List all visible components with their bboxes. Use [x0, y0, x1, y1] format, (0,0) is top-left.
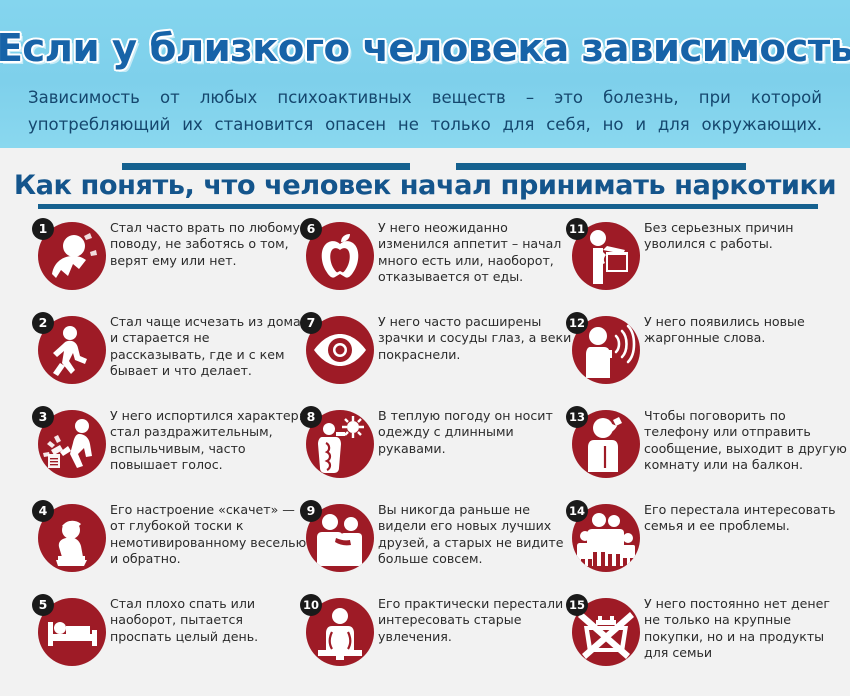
item-number-badge: 4 [32, 500, 54, 522]
item-text: Его практически перестали интересовать с… [378, 596, 576, 645]
lead-paragraph: Зависимость от любых психоактивных вещес… [28, 84, 822, 138]
icon-wrap: 12 [566, 312, 642, 388]
list-item: 4 Его настроение «скачет» — от глубокой … [32, 500, 308, 592]
signs-column-2: 6 У него неожиданно изменился аппетит – … [300, 216, 576, 694]
item-text: У него часто расширены зрачки и сосуды г… [378, 314, 576, 363]
signs-column-3: 11 Без серьезных причин уволился с работ… [566, 216, 842, 694]
icon-wrap: 1 [32, 218, 108, 294]
item-number-badge: 11 [566, 218, 588, 240]
section-title: Как понять, что человек начал принимать … [0, 170, 850, 201]
icon-wrap: 6 [300, 218, 376, 294]
item-text: Его настроение «скачет» — от глубокой то… [110, 502, 308, 568]
icon-wrap: 13 [566, 406, 642, 482]
item-text: В теплую погоду он носит одежду с длинны… [378, 408, 576, 457]
item-number-badge: 1 [32, 218, 54, 240]
section-title-underline [38, 204, 818, 209]
icon-wrap: 14 [566, 500, 642, 576]
icon-wrap: 3 [32, 406, 108, 482]
icon-wrap: 9 [300, 500, 376, 576]
item-text: У него испортился характер: стал раздраж… [110, 408, 308, 474]
item-text: У него неожиданно изменился аппетит – на… [378, 220, 576, 286]
item-text: Стал часто врать по любому поводу, не за… [110, 220, 308, 269]
icon-wrap: 10 [300, 594, 376, 670]
item-number-badge: 7 [300, 312, 322, 334]
page-title: Если у близкого человека зависимость [0, 26, 850, 70]
list-item: 3 У него испортился характер: стал раздр… [32, 406, 308, 498]
icon-wrap: 7 [300, 312, 376, 388]
item-text: Вы никогда раньше не видели его новых лу… [378, 502, 576, 568]
list-item: 15 У него постоянно нет денег не только … [566, 594, 842, 686]
list-item: 11 Без серьезных причин уволился с работ… [566, 218, 842, 310]
icon-wrap: 15 [566, 594, 642, 670]
signs-grid: 1 Стал часто врать по любому поводу, не … [0, 216, 850, 694]
item-number-badge: 13 [566, 406, 588, 428]
item-number-badge: 8 [300, 406, 322, 428]
list-item: 14 Его перестала интересовать семья и ее… [566, 500, 842, 592]
list-item: 1 Стал часто врать по любому поводу, не … [32, 218, 308, 310]
list-item: 7 У него часто расширены зрачки и сосуды… [300, 312, 576, 404]
accent-bar-right [456, 163, 746, 170]
icon-wrap: 5 [32, 594, 108, 670]
item-number-badge: 10 [300, 594, 322, 616]
item-text: Без серьезных причин уволился с работы. [644, 220, 849, 253]
item-text: Стал чаще исчезать из дома, и старается … [110, 314, 308, 380]
list-item: 10 Его практически перестали интересоват… [300, 594, 576, 686]
signs-column-1: 1 Стал часто врать по любому поводу, не … [32, 216, 308, 694]
item-text: Стал плохо спать или наоборот, пытается … [110, 596, 308, 645]
item-number-badge: 15 [566, 594, 588, 616]
list-item: 6 У него неожиданно изменился аппетит – … [300, 218, 576, 310]
item-number-badge: 6 [300, 218, 322, 240]
accent-bar-left [122, 163, 410, 170]
icon-wrap: 2 [32, 312, 108, 388]
item-number-badge: 5 [32, 594, 54, 616]
item-number-badge: 9 [300, 500, 322, 522]
item-text: У него постоянно нет денег не только на … [644, 596, 849, 662]
list-item: 13 Чтобы поговорить по телефону или отпр… [566, 406, 842, 498]
list-item: 9 Вы никогда раньше не видели его новых … [300, 500, 576, 592]
list-item: 5 Стал плохо спать или наоборот, пытаетс… [32, 594, 308, 686]
item-number-badge: 3 [32, 406, 54, 428]
item-number-badge: 2 [32, 312, 54, 334]
list-item: 8 В теплую погоду он носит одежду с длин… [300, 406, 576, 498]
header-band: Если у близкого человека зависимость Зав… [0, 0, 850, 148]
list-item: 12 У него появились новые жаргонные слов… [566, 312, 842, 404]
icon-wrap: 4 [32, 500, 108, 576]
item-text: Чтобы поговорить по телефону или отправи… [644, 408, 849, 474]
item-text: У него появились новые жаргонные слова. [644, 314, 849, 347]
item-number-badge: 14 [566, 500, 588, 522]
item-text: Его перестала интересовать семья и ее пр… [644, 502, 849, 535]
item-number-badge: 12 [566, 312, 588, 334]
icon-wrap: 11 [566, 218, 642, 294]
list-item: 2 Стал чаще исчезать из дома, и стараетс… [32, 312, 308, 404]
icon-wrap: 8 [300, 406, 376, 482]
